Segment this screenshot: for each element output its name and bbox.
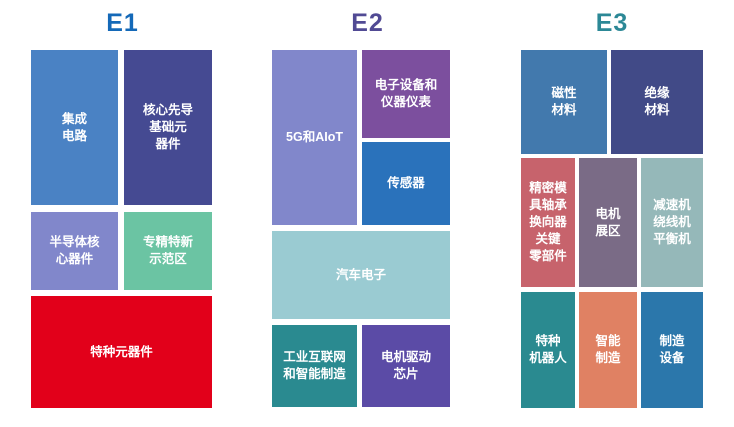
tile-label: 汽车电子 [274, 267, 448, 284]
tile-label: 特种 机器人 [523, 333, 573, 367]
tile-5g-and-aiot[interactable]: 5G和AIoT [272, 50, 357, 225]
tile-specialized-innovation-demo-zone[interactable]: 专精特新 示范区 [124, 212, 212, 290]
zone-e2-title: E2 [245, 8, 490, 38]
tile-label: 电机驱动 芯片 [364, 349, 448, 383]
tile-integrated-circuits[interactable]: 集成 电路 [31, 50, 118, 205]
tile-core-leading-base-components[interactable]: 核心先导 基础元 器件 [124, 50, 212, 205]
tile-sensors[interactable]: 传感器 [362, 142, 450, 225]
tile-label: 5G和AIoT [274, 129, 355, 146]
tile-label: 减速机 绕线机 平衡机 [643, 197, 701, 248]
tile-precision-mold-bearing-commutator-key-parts[interactable]: 精密模 具轴承 换向器 关键 零部件 [521, 158, 575, 287]
tile-special-robots[interactable]: 特种 机器人 [521, 292, 575, 408]
tile-label: 核心先导 基础元 器件 [126, 102, 210, 153]
zone-e1-title: E1 [0, 8, 245, 38]
tile-label: 传感器 [364, 175, 448, 192]
tile-label: 电子设备和 仪器仪表 [364, 77, 448, 111]
tile-smart-manufacturing[interactable]: 智能 制造 [579, 292, 637, 408]
tile-label: 半导体核 心器件 [33, 234, 116, 268]
tile-magnetic-materials[interactable]: 磁性 材料 [521, 50, 607, 154]
tile-label: 制造 设备 [643, 333, 701, 367]
tile-label: 工业互联网 和智能制造 [274, 349, 355, 383]
tile-label: 特种元器件 [33, 344, 210, 361]
tile-motor-drive-chips[interactable]: 电机驱动 芯片 [362, 325, 450, 407]
tile-electronic-equipment-and-instruments[interactable]: 电子设备和 仪器仪表 [362, 50, 450, 138]
tile-label: 智能 制造 [581, 333, 635, 367]
tile-semiconductor-core-devices[interactable]: 半导体核 心器件 [31, 212, 118, 290]
tile-label: 电机 展区 [581, 206, 635, 240]
tile-label: 磁性 材料 [523, 85, 605, 119]
tile-label: 专精特新 示范区 [126, 234, 210, 268]
tile-motor-exhibition-area[interactable]: 电机 展区 [579, 158, 637, 287]
tile-insulating-materials[interactable]: 绝缘 材料 [611, 50, 703, 154]
tile-label: 绝缘 材料 [613, 85, 701, 119]
tile-industrial-internet-and-smart-manufacturing[interactable]: 工业互联网 和智能制造 [272, 325, 357, 407]
tile-label: 精密模 具轴承 换向器 关键 零部件 [523, 180, 573, 265]
exhibition-zone-map: E1 E2 E3 集成 电路核心先导 基础元 器件半导体核 心器件专精特新 示范… [0, 0, 734, 427]
tile-reducer-winding-balancing-machines[interactable]: 减速机 绕线机 平衡机 [641, 158, 703, 287]
tile-label: 集成 电路 [33, 111, 116, 145]
tile-special-components[interactable]: 特种元器件 [31, 296, 212, 408]
tile-manufacturing-equipment[interactable]: 制造 设备 [641, 292, 703, 408]
zone-e3-title: E3 [490, 8, 734, 38]
tile-automotive-electronics[interactable]: 汽车电子 [272, 231, 450, 319]
